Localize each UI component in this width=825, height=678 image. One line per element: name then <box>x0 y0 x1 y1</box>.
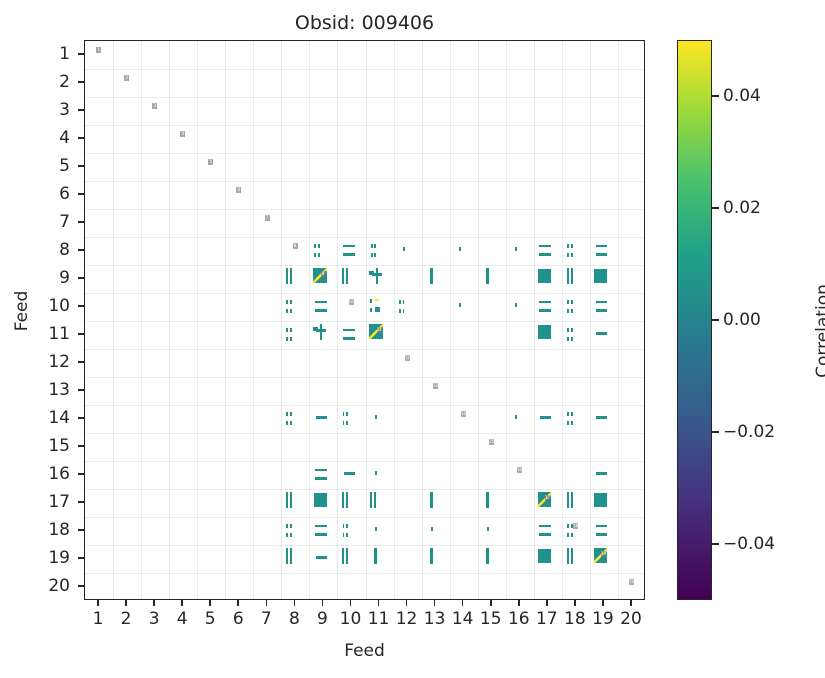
heatmap-cell-mark <box>343 245 355 247</box>
heatmap-cell-mark <box>539 309 551 312</box>
figure-title: Obsid: 009406 <box>84 10 645 36</box>
y-axis-tick <box>78 221 84 223</box>
y-axis-tick-label: 6 <box>0 183 70 205</box>
heatmap-cell-mark <box>486 268 489 284</box>
y-axis-tick <box>78 333 84 335</box>
heatmap-cell-mark <box>567 421 569 425</box>
y-axis-tick <box>78 249 84 251</box>
x-axis-tick-label: 20 <box>611 608 651 630</box>
heatmap-cell-mark <box>286 412 288 415</box>
heatmap-cell-mark <box>346 548 348 564</box>
diagonal-feed-index-label: 8 <box>293 243 298 248</box>
y-axis-tick-label: 11 <box>0 323 70 345</box>
heatmap-cell-mark <box>290 328 292 331</box>
y-axis-tick-label: 17 <box>0 491 70 513</box>
heatmap-cell-mark <box>346 524 348 527</box>
x-axis-tick <box>434 600 436 606</box>
heatmap-cell-mark <box>594 493 607 508</box>
heatmap-cell-mark <box>596 301 608 303</box>
heatmap-cell-mark <box>515 303 517 307</box>
heatmap-cell-mark <box>290 300 292 303</box>
y-axis-tick-label: 16 <box>0 463 70 485</box>
diagonal-feed-index-label: 16 <box>517 467 522 472</box>
x-axis-tick <box>462 600 464 606</box>
grid-line-horizontal <box>85 153 644 154</box>
heatmap-cell-mark <box>290 412 292 415</box>
y-axis-tick <box>78 585 84 587</box>
heatmap-cell-mark <box>571 244 573 247</box>
figure-canvas: Obsid: 009406 12345678910111213141516171… <box>0 0 825 678</box>
heatmap-cell-mark <box>316 556 327 558</box>
grid-line-vertical <box>562 41 563 599</box>
colorbar-tick-label: −0.04 <box>723 533 813 555</box>
colorbar-tick <box>712 543 719 545</box>
heatmap-cell-mark <box>399 300 401 303</box>
heatmap-cell-mark <box>538 549 551 564</box>
diagonal-feed-index-label: 18 <box>573 523 578 528</box>
heatmap-cell-mark <box>515 247 517 251</box>
grid-line-vertical <box>253 41 254 599</box>
y-axis-tick-label: 2 <box>0 71 70 93</box>
colorbar-gradient <box>677 40 712 600</box>
heatmap-cell-mark <box>567 328 569 331</box>
x-axis-tick <box>630 600 632 606</box>
heatmap-cell-mark <box>344 472 355 474</box>
diagonal-feed-index-label: 1 <box>96 47 101 52</box>
heatmap-cell-mark <box>567 253 569 257</box>
x-axis-tick <box>153 600 155 606</box>
heatmap-cell-mark <box>567 412 569 415</box>
grid-line-horizontal <box>85 209 644 210</box>
y-axis-tick <box>78 81 84 83</box>
diagonal-feed-index-label: 14 <box>461 411 466 416</box>
heatmap-cell-mark <box>571 300 573 303</box>
heatmap-cell-mark <box>286 337 288 341</box>
heatmap-cell-mark <box>343 253 355 256</box>
heatmap-cell-mark <box>596 245 608 247</box>
diagonal-feed-index-label: 3 <box>152 103 157 108</box>
diagonal-feed-index-label: 4 <box>180 131 185 136</box>
heatmap-cell-mark <box>315 525 327 527</box>
heatmap-cell-mark <box>290 268 292 284</box>
heatmap-cell-mark <box>459 247 461 251</box>
heatmap-cell-mark <box>374 244 376 247</box>
heatmap-cell-mark <box>459 303 461 307</box>
heatmap-cell-mark <box>346 421 348 425</box>
diagonal-feed-index-label: 20 <box>629 579 634 584</box>
heatmap-cell-mark <box>343 533 345 537</box>
colorbar-tick-label: 0.00 <box>723 309 813 331</box>
heatmap-cell-mark <box>343 524 345 527</box>
grid-line-horizontal <box>85 489 644 490</box>
heatmap-cell-mark <box>596 253 608 256</box>
y-axis-tick-label: 9 <box>0 267 70 289</box>
heatmap-cell-mark <box>567 300 569 303</box>
x-axis-tick <box>602 600 604 606</box>
x-axis-tick <box>546 600 548 606</box>
grid-line-horizontal <box>85 265 644 266</box>
heatmap-cell-mark <box>371 244 373 247</box>
diagonal-feed-index-label: 2 <box>124 75 129 80</box>
heatmap-cell-mark <box>315 309 327 312</box>
heatmap-cell-mark <box>571 253 573 257</box>
y-axis-tick-label: 5 <box>0 155 70 177</box>
heatmap-cell-mark <box>346 412 348 415</box>
heatmap-cell-mark <box>375 527 377 531</box>
grid-line-vertical <box>309 41 310 599</box>
heatmap-cell-mark <box>370 308 372 312</box>
colorbar-tick-label: 0.02 <box>723 197 813 219</box>
grid-line-vertical <box>534 41 535 599</box>
grid-line-horizontal <box>85 545 644 546</box>
heatmap-cell-mark <box>571 421 573 425</box>
heatmap-cell-mark <box>567 244 569 247</box>
heatmap-cell-mark <box>538 269 551 284</box>
heatmap-cell-mark <box>342 492 344 508</box>
y-axis-tick-label: 8 <box>0 239 70 261</box>
y-axis-tick-label: 13 <box>0 379 70 401</box>
heatmap-cell-mark <box>371 253 373 257</box>
heatmap-cell-mark <box>290 492 292 508</box>
grid-line-vertical <box>450 41 451 599</box>
colorbar-tick <box>712 207 719 209</box>
grid-line-vertical <box>197 41 198 599</box>
heatmap-cell-mark <box>375 415 377 419</box>
heatmap-cell-mark <box>318 253 320 257</box>
grid-line-horizontal <box>85 573 644 574</box>
y-axis-tick <box>78 557 84 559</box>
grid-line-vertical <box>618 41 619 599</box>
grid-line-vertical <box>394 41 395 599</box>
heatmap-cell-mark <box>567 492 569 508</box>
heatmap-cell-mark <box>370 299 372 303</box>
colorbar-tick <box>712 319 719 321</box>
colorbar-label: Correlation <box>812 241 825 421</box>
heatmap-cell-mark <box>486 492 489 508</box>
heatmap-cell-mark <box>346 492 348 508</box>
heatmap-cell-mark <box>567 524 569 527</box>
heatmap-cell-mark <box>314 493 327 508</box>
y-axis-tick-label: 15 <box>0 435 70 457</box>
grid-line-horizontal <box>85 349 644 350</box>
grid-line-vertical <box>590 41 591 599</box>
grid-line-horizontal <box>85 461 644 462</box>
y-axis-tick-label: 19 <box>0 547 70 569</box>
heatmap-cell-mark <box>290 533 292 537</box>
heatmap-cell-mark <box>286 524 288 527</box>
heatmap-cell-mark <box>374 548 377 564</box>
heatmap-plot-area: 1234567891011121314151617181920 <box>85 41 644 599</box>
heatmap-cell-mark <box>431 527 433 531</box>
x-axis-tick <box>406 600 408 606</box>
colorbar-tick-label: 0.04 <box>723 85 813 107</box>
heatmap-cell-mark <box>286 421 288 425</box>
heatmap-cell-mark <box>539 301 551 303</box>
x-axis-tick <box>266 600 268 606</box>
heatmap-cell-mark <box>375 307 379 312</box>
x-axis-tick <box>237 600 239 606</box>
heatmap-cell-mark <box>403 247 405 251</box>
diagonal-feed-index-label: 15 <box>489 439 494 444</box>
heatmap-cell-mark <box>343 337 355 340</box>
y-axis-tick-label: 20 <box>0 575 70 597</box>
grid-line-horizontal <box>85 181 644 182</box>
diagonal-feed-index-label: 12 <box>405 355 410 360</box>
heatmap-cell-mark <box>286 328 288 331</box>
heatmap-cell-mark <box>567 337 569 341</box>
grid-line-horizontal <box>85 237 644 238</box>
y-axis-tick-label: 3 <box>0 99 70 121</box>
heatmap-cell-mark <box>539 525 551 527</box>
heatmap-cell-mark <box>370 492 372 508</box>
heatmap-cell-mark <box>315 533 327 536</box>
heatmap-cell-mark <box>315 301 327 303</box>
grid-line-horizontal <box>85 405 644 406</box>
x-axis-tick <box>518 600 520 606</box>
y-axis-tick-label: 12 <box>0 351 70 373</box>
y-axis-tick-label: 4 <box>0 127 70 149</box>
heatmap-cell-mark <box>343 421 345 425</box>
grid-line-vertical <box>478 41 479 599</box>
colorbar-tick <box>712 95 719 97</box>
y-axis-tick-label: 18 <box>0 519 70 541</box>
heatmap-cell-mark <box>571 337 573 341</box>
y-axis-tick <box>78 417 84 419</box>
heatmap-cell-mark <box>375 299 379 302</box>
grid-line-vertical <box>422 41 423 599</box>
heatmap-cell-mark <box>318 244 320 247</box>
heatmap-cell-mark <box>596 416 607 418</box>
diagonal-feed-index-label: 5 <box>208 159 213 164</box>
heatmap-cell-mark <box>539 245 551 247</box>
y-axis-tick-label: 7 <box>0 211 70 233</box>
heatmap-cell-mark <box>571 268 573 284</box>
x-axis-tick <box>97 600 99 606</box>
heatmap-cell-mark <box>539 253 551 256</box>
x-axis-tick <box>350 600 352 606</box>
heatmap-cell-mark <box>314 244 316 247</box>
heatmap-cell-mark <box>346 268 348 284</box>
heatmap-cell-mark <box>567 548 569 564</box>
heatmap-cell-mark <box>540 416 551 418</box>
heatmap-cell-mark <box>571 412 573 415</box>
colorbar-tick <box>712 431 719 433</box>
x-axis-tick <box>378 600 380 606</box>
grid-line-horizontal <box>85 517 644 518</box>
heatmap-cell-mark <box>376 268 379 284</box>
diagonal-feed-index-label: 6 <box>236 187 241 192</box>
heatmap-cell-mark <box>403 309 405 313</box>
heatmap-cell-mark <box>320 324 323 340</box>
heatmap-cell-mark <box>571 328 573 331</box>
y-axis-tick-label: 1 <box>0 43 70 65</box>
y-axis-tick <box>78 277 84 279</box>
heatmap-cell-mark <box>571 309 573 313</box>
grid-line-horizontal <box>85 377 644 378</box>
heatmap-cell-mark <box>515 415 517 419</box>
x-axis-tick <box>322 600 324 606</box>
heatmap-cell-mark <box>286 492 288 508</box>
heatmap-cell-mark <box>286 309 288 313</box>
heatmap-cell-mark <box>372 273 383 276</box>
heatmap-cell-mark <box>286 548 288 564</box>
heatmap-cell-mark <box>290 337 292 341</box>
heatmap-cell-mark <box>430 548 433 564</box>
heatmap-cell-mark <box>346 533 348 537</box>
y-axis-tick <box>78 361 84 363</box>
y-axis-tick <box>78 137 84 139</box>
heatmap-cell-mark <box>343 412 345 415</box>
heatmap-cell-mark <box>596 332 607 334</box>
diagonal-feed-index-label: 17 <box>545 495 550 500</box>
heatmap-cell-mark <box>596 533 608 536</box>
y-axis-tick-label: 10 <box>0 295 70 317</box>
heatmap-cell-mark <box>430 268 433 284</box>
y-axis-tick <box>78 473 84 475</box>
heatmap-cell-mark <box>316 416 327 418</box>
heatmap-cell-mark <box>430 492 433 508</box>
x-axis-tick <box>181 600 183 606</box>
x-axis-tick <box>125 600 127 606</box>
grid-line-vertical <box>225 41 226 599</box>
diagonal-feed-index-label: 13 <box>433 383 438 388</box>
grid-line-vertical <box>366 41 367 599</box>
y-axis-tick <box>78 305 84 307</box>
heatmap-cell-mark <box>594 269 607 284</box>
colorbar-tick-label: −0.02 <box>723 421 813 443</box>
grid-line-vertical <box>506 41 507 599</box>
x-axis-tick <box>574 600 576 606</box>
heatmap-cell-mark <box>539 533 551 536</box>
y-axis-tick <box>78 389 84 391</box>
heatmap-cell-mark <box>571 548 573 564</box>
diagonal-feed-index-label: 9 <box>321 271 326 276</box>
x-axis-tick <box>294 600 296 606</box>
heatmap-cell-mark <box>596 309 608 312</box>
heatmap-cell-mark <box>286 300 288 303</box>
diagonal-feed-index-label: 10 <box>349 299 354 304</box>
y-axis-tick <box>78 193 84 195</box>
x-axis-tick <box>490 600 492 606</box>
heatmap-cell-mark <box>486 548 489 564</box>
y-axis-tick <box>78 501 84 503</box>
grid-line-horizontal <box>85 321 644 322</box>
heatmap-cell-mark <box>290 309 292 313</box>
heatmap-cell-mark <box>290 524 292 527</box>
heatmap-cell-mark <box>596 525 608 527</box>
y-axis-tick <box>78 109 84 111</box>
y-axis-tick <box>78 529 84 531</box>
x-axis-tick <box>209 600 211 606</box>
heatmap-cell-mark <box>487 527 489 531</box>
y-axis-tick <box>78 165 84 167</box>
heatmap-axes[interactable]: 1234567891011121314151617181920 <box>84 40 645 600</box>
grid-line-horizontal <box>85 125 644 126</box>
y-axis-tick-label: 14 <box>0 407 70 429</box>
heatmap-cell-mark <box>374 492 376 508</box>
y-axis-tick <box>78 53 84 55</box>
heatmap-cell-mark <box>343 329 355 331</box>
heatmap-cell-mark <box>567 309 569 313</box>
diagonal-feed-index-label: 7 <box>265 215 270 220</box>
grid-line-vertical <box>281 41 282 599</box>
y-axis-tick <box>78 445 84 447</box>
heatmap-cell-mark <box>342 268 344 284</box>
heatmap-cell-mark <box>315 477 327 480</box>
heatmap-cell-mark <box>374 253 376 257</box>
diagonal-feed-index-label: 11 <box>377 327 382 332</box>
heatmap-cell-mark <box>403 300 405 303</box>
grid-line-horizontal <box>85 293 644 294</box>
heatmap-cell-mark <box>567 268 569 284</box>
heatmap-cell-mark <box>342 548 344 564</box>
heatmap-cell-mark <box>571 492 573 508</box>
heatmap-cell-mark <box>399 309 401 313</box>
heatmap-cell-mark <box>290 548 292 564</box>
heatmap-cell-mark <box>571 533 573 537</box>
heatmap-cell-mark <box>316 329 327 332</box>
heatmap-cell-mark <box>375 471 377 475</box>
heatmap-cell-mark <box>286 268 288 284</box>
heatmap-cell-mark <box>314 253 316 257</box>
heatmap-cell-mark <box>567 533 569 537</box>
heatmap-cell-mark <box>290 421 292 425</box>
diagonal-feed-index-label: 19 <box>601 551 606 556</box>
grid-line-horizontal <box>85 433 644 434</box>
x-axis-label: Feed <box>84 640 645 662</box>
heatmap-cell-mark <box>538 325 551 340</box>
heatmap-cell-mark <box>286 533 288 537</box>
heatmap-cell-mark <box>315 469 327 471</box>
heatmap-cell-mark <box>596 472 607 474</box>
grid-line-vertical <box>337 41 338 599</box>
